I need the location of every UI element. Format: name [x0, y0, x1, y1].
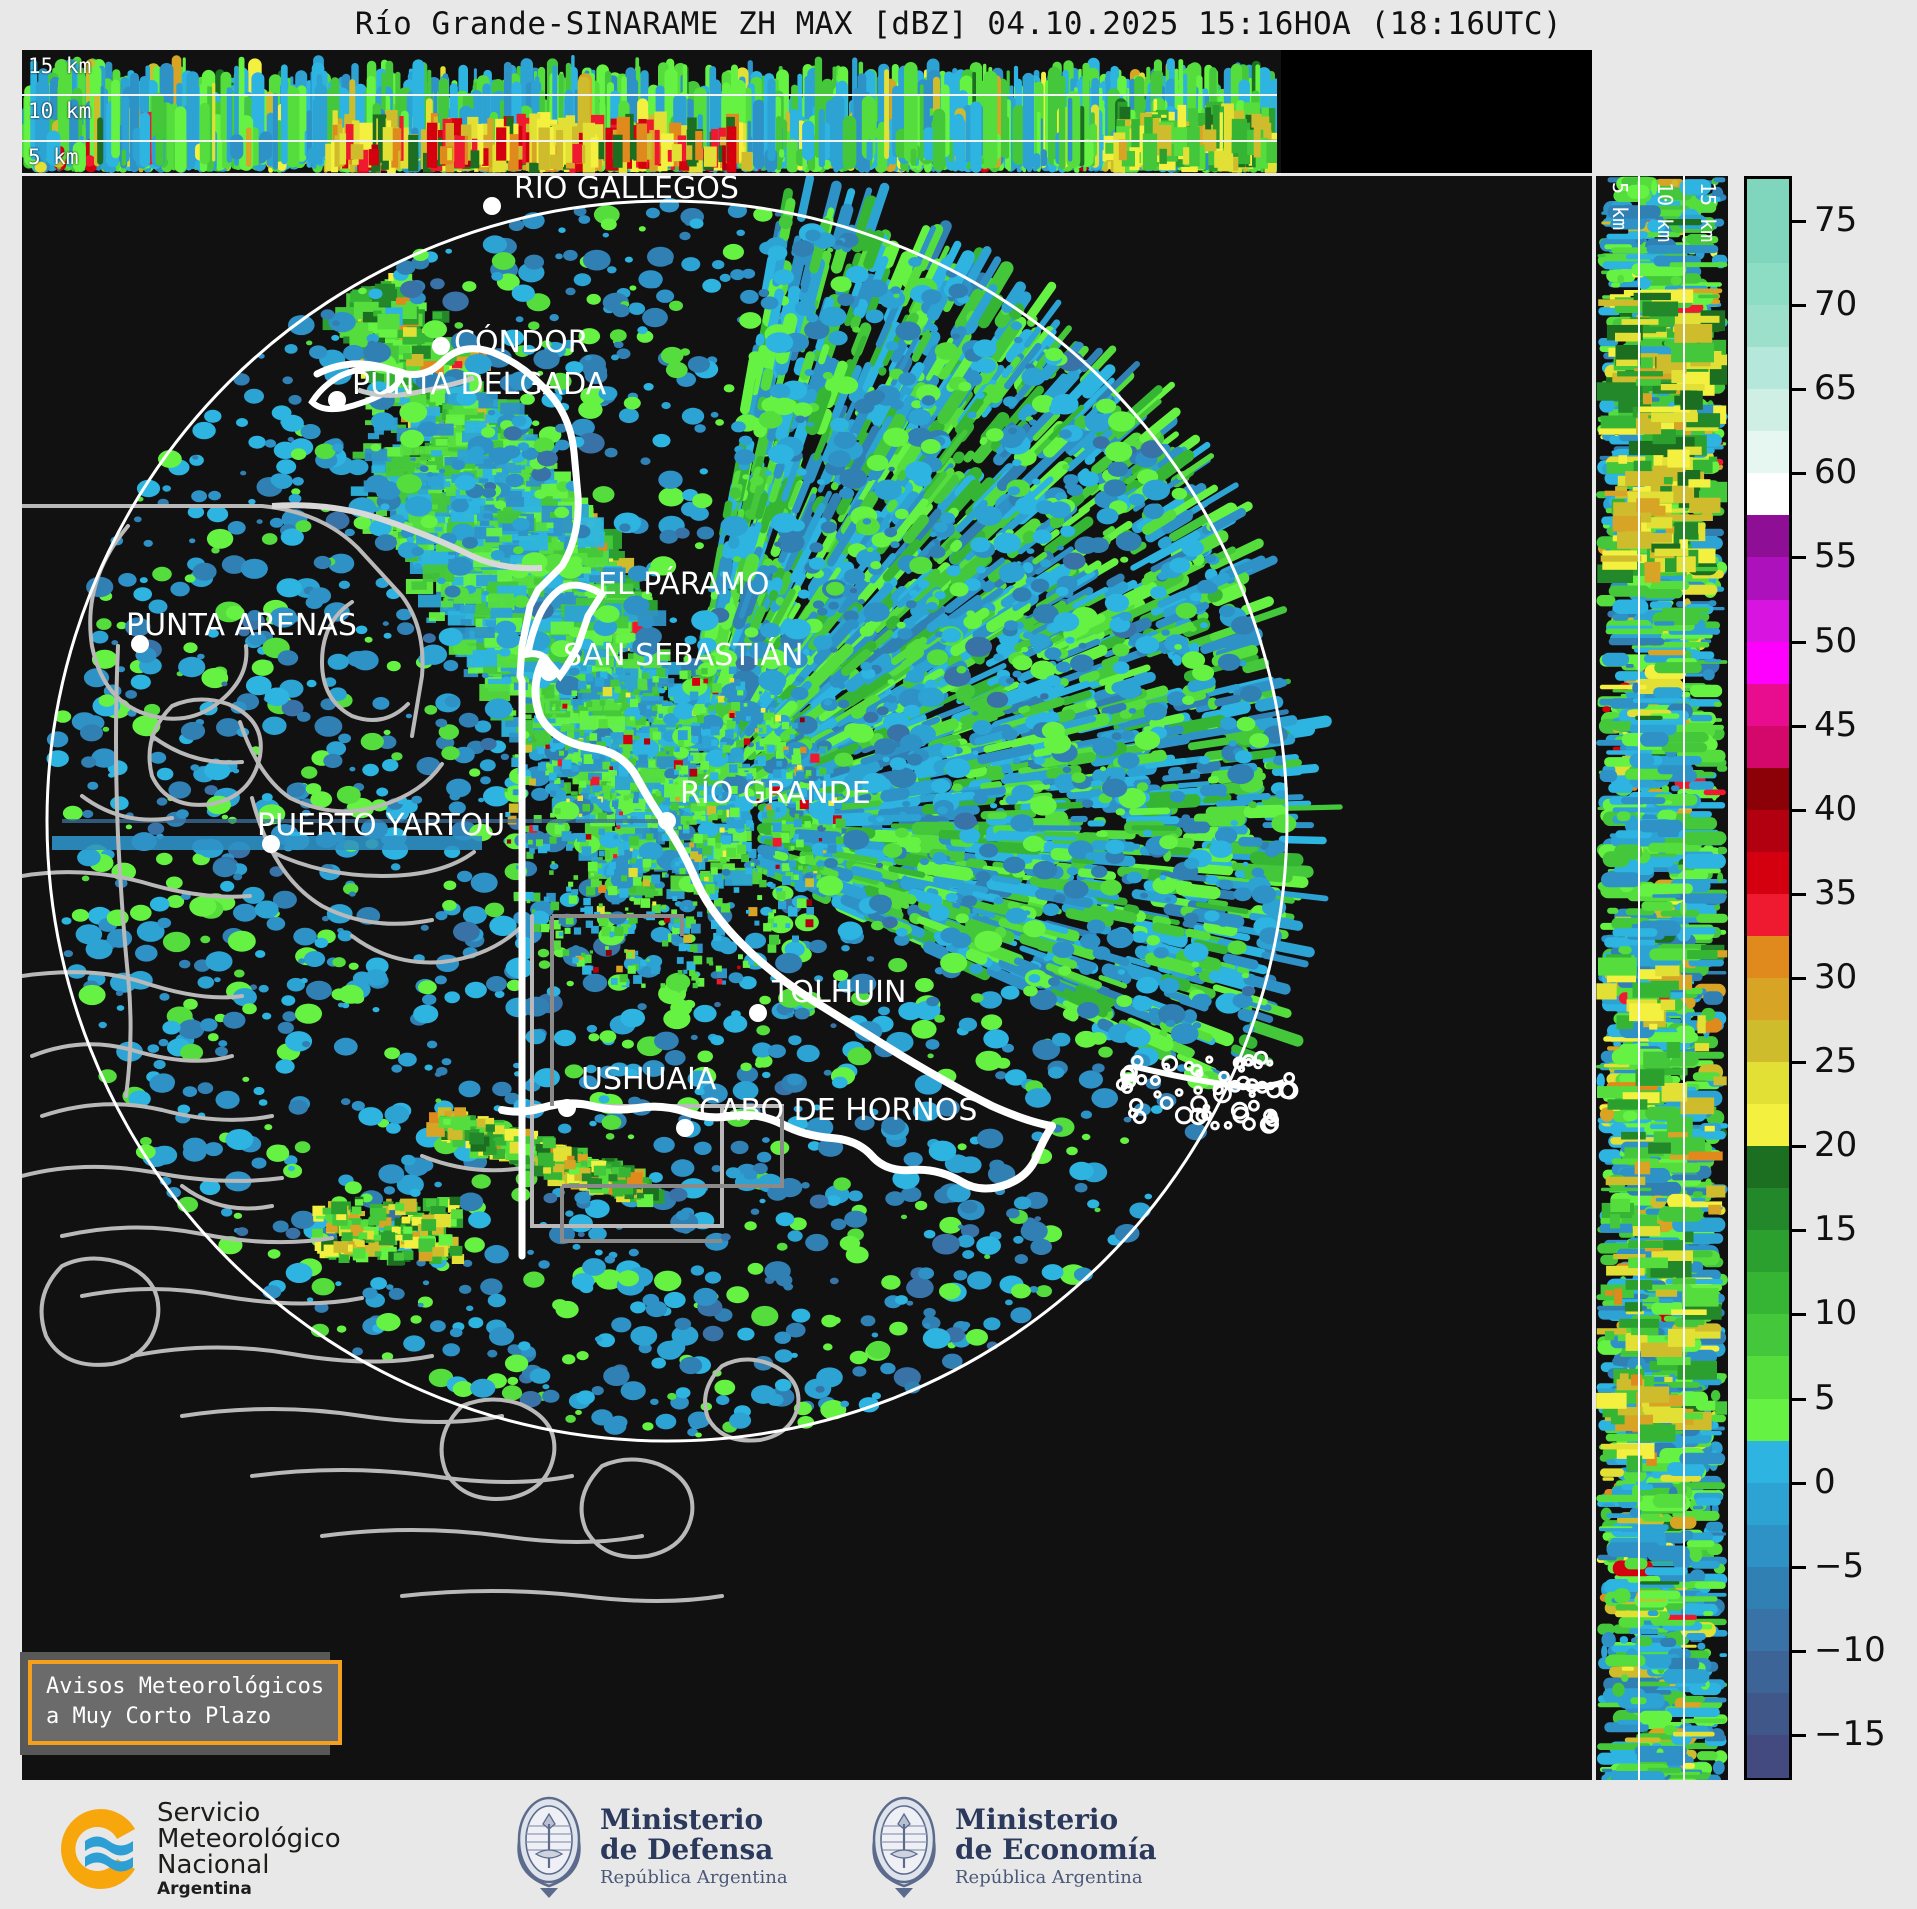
- xsec-echo: [686, 145, 693, 160]
- xsec-echo: [1041, 149, 1047, 166]
- xsec-echo: [156, 94, 164, 165]
- xsec-echo: [246, 127, 251, 166]
- radar-echo: [1096, 831, 1108, 837]
- xsec-echo: [281, 64, 288, 164]
- xsec-echo: [217, 139, 222, 171]
- xsec-echo: [572, 144, 582, 163]
- radar-echo: [868, 814, 922, 823]
- xsec-echo: [340, 133, 347, 164]
- radar-map-svg: RÍO GALLEGOSCÓNDORPUNTA DELGADAEL PÁRAMO…: [22, 176, 1592, 1780]
- xsec-echo: [831, 95, 845, 170]
- xsec-echo: [427, 123, 437, 168]
- top-cross-section-plot: [22, 50, 1592, 173]
- xsec-echo: [200, 103, 210, 165]
- radar-echo: [1070, 816, 1088, 823]
- xsec-echo: [695, 131, 702, 160]
- radar-echo: [1206, 806, 1251, 818]
- xsec-echo: [122, 149, 126, 166]
- xsec-echo: [496, 127, 506, 160]
- xsec-echo: [259, 131, 272, 160]
- xsec-top-label-15km: 15 km: [28, 54, 91, 78]
- xsec-echo: [539, 128, 550, 171]
- xsec-echo: [529, 163, 539, 173]
- xsec-echo: [1183, 147, 1189, 164]
- xsec-echo: [904, 62, 918, 162]
- xsec-echo: [672, 144, 682, 161]
- xsec-top-label-5km: 5 km: [28, 145, 79, 169]
- radar-echo: [1181, 814, 1190, 822]
- xsec-echo: [655, 130, 660, 165]
- xsec-echo: [613, 135, 623, 168]
- xsec-echo: [637, 124, 647, 162]
- xsec-echo: [767, 79, 775, 162]
- xsec-echo: [556, 130, 563, 170]
- xsec-echo: [447, 148, 452, 160]
- radar-map-panel[interactable]: RÍO GALLEGOSCÓNDORPUNTA DELGADAEL PÁRAMO…: [22, 176, 1592, 1780]
- xsec-top-label-10km: 10 km: [28, 99, 91, 123]
- xsec-echo: [727, 127, 737, 173]
- xsec-echo: [369, 149, 379, 165]
- xsec-echo: [911, 149, 917, 166]
- top-cross-section-panel: 15 km 10 km 5 km: [22, 50, 1592, 173]
- xsec-echo: [1119, 140, 1127, 161]
- xsec-echo: [1131, 119, 1139, 150]
- xsec-echo: [1218, 153, 1234, 171]
- xsec-echo: [970, 101, 981, 172]
- xsec-echo: [1004, 117, 1009, 159]
- xsec-echo: [1143, 134, 1157, 171]
- xsec-echo: [230, 134, 243, 160]
- xsec-echo: [867, 139, 873, 160]
- xsec-echo: [1157, 125, 1171, 149]
- xsec-echo: [954, 114, 964, 158]
- xsec-echo: [471, 150, 480, 168]
- xsec-echo: [779, 149, 784, 158]
- radar-echo: [1088, 820, 1106, 826]
- radar-echo: [1031, 825, 1081, 831]
- xsec-echo: [273, 93, 278, 169]
- xsec-echo: [753, 100, 765, 170]
- xsec-echo: [1232, 119, 1247, 153]
- xsec-echo: [383, 127, 393, 161]
- page-title: Río Grande-SINARAME ZH MAX [dBZ] 04.10.2…: [0, 6, 1917, 42]
- xsec-echo: [819, 109, 825, 167]
- xsec-echo: [140, 112, 150, 167]
- xsec-echo: [351, 144, 364, 159]
- xsec-echo: [984, 71, 998, 169]
- radar-echo: [1129, 807, 1170, 815]
- xsec-echo: [843, 116, 857, 170]
- xsec-echo: [175, 106, 187, 172]
- xsec-echo: [704, 147, 717, 167]
- xsec-echo: [742, 152, 753, 171]
- xsec-echo: [111, 80, 120, 159]
- xsec-echo: [598, 141, 604, 159]
- xsec-echo: [1059, 76, 1066, 169]
- xsec-echo: [787, 139, 798, 173]
- xsec-echo: [1068, 98, 1072, 162]
- xsec-echo: [668, 150, 672, 162]
- radar-echo: [1040, 831, 1076, 837]
- xsec-echo: [1023, 73, 1034, 170]
- xsec-echo: [286, 86, 299, 167]
- xsec-echo: [1254, 116, 1261, 158]
- xsec-echo: [884, 69, 889, 159]
